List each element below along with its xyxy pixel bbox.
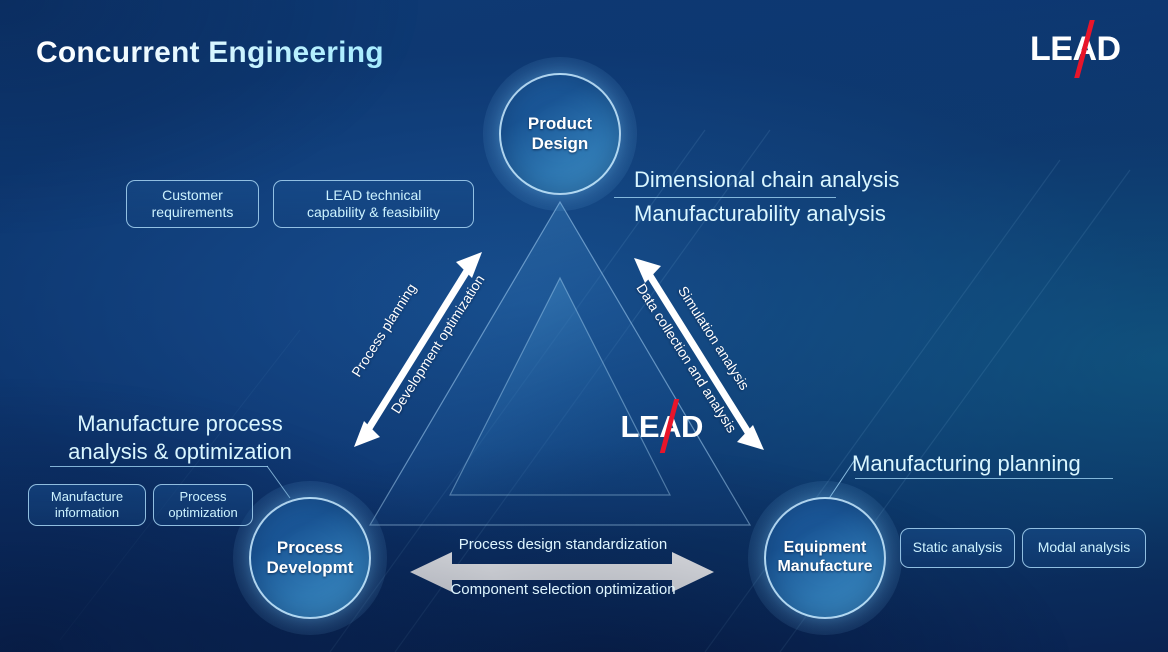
slide-canvas: Concurrent Engineering LEAD LEAD Product…: [0, 0, 1168, 652]
pill-text: LEAD technical capability & feasibility: [307, 187, 440, 221]
pill-text: Manufacture information: [51, 489, 123, 521]
node-process-development[interactable]: Process Developmt: [249, 497, 371, 619]
pill-line-1: Manufacture: [51, 489, 123, 504]
node-line-1: Process: [277, 538, 343, 557]
heading-left: Manufacture process analysis & optimizat…: [44, 410, 316, 465]
pill-text: Process optimization: [168, 489, 237, 521]
pill-line-2: requirements: [152, 204, 234, 220]
pill-process-optimization[interactable]: Process optimization: [153, 484, 253, 526]
heading-top-right-rule: [614, 197, 836, 198]
node-line-2: Manufacture: [777, 558, 872, 575]
pill-text: Customer requirements: [152, 187, 234, 221]
arrow-bottom-above-label: Process design standardization: [398, 536, 728, 553]
heading-right: Manufacturing planning: [852, 450, 1120, 478]
node-product-design[interactable]: Product Design: [499, 73, 621, 195]
pill-modal-analysis[interactable]: Modal analysis: [1022, 528, 1146, 568]
center-logo-text: LEAD: [620, 411, 702, 442]
pill-line-1: Process: [180, 489, 227, 504]
heading-right-rule: [855, 478, 1113, 479]
pill-manufacture-information[interactable]: Manufacture information: [28, 484, 146, 526]
pill-line-1: LEAD technical: [326, 187, 422, 203]
heading-top-right-line-2: Manufacturability analysis: [634, 200, 934, 228]
brand-logo-text: LEAD: [1030, 32, 1121, 66]
node-process-development-label: Process Developmt: [267, 538, 354, 577]
pill-line-2: information: [55, 505, 119, 520]
pill-line-2: optimization: [168, 505, 237, 520]
node-line-1: Product: [528, 114, 592, 133]
heading-right-line-1: Manufacturing planning: [852, 450, 1120, 478]
pill-line-1: Modal analysis: [1038, 539, 1131, 556]
heading-left-line-1: Manufacture process: [44, 410, 316, 438]
node-line-2: Developmt: [267, 558, 354, 577]
node-line-1: Equipment: [784, 539, 867, 556]
left-heading-connector: [267, 466, 290, 498]
node-equipment-manufacture-label: Equipment Manufacture: [777, 539, 872, 576]
pill-static-analysis[interactable]: Static analysis: [900, 528, 1015, 568]
node-product-design-label: Product Design: [528, 114, 592, 153]
heading-left-line-2: analysis & optimization: [44, 438, 316, 466]
heading-left-rule: [50, 466, 268, 467]
pill-line-1: Static analysis: [913, 539, 1002, 556]
brand-logo-top-right: LEAD: [1030, 28, 1122, 72]
node-line-2: Design: [532, 134, 589, 153]
pill-customer-requirements[interactable]: Customer requirements: [126, 180, 259, 228]
arrow-bottom-below-label: Component selection optimization: [384, 581, 742, 598]
pill-line-2: capability & feasibility: [307, 204, 440, 220]
pill-lead-technical-capability[interactable]: LEAD technical capability & feasibility: [273, 180, 474, 228]
node-equipment-manufacture[interactable]: Equipment Manufacture: [764, 497, 886, 619]
page-title: Concurrent Engineering: [36, 36, 384, 70]
heading-top-right-line-1: Dimensional chain analysis: [634, 166, 934, 194]
pill-line-1: Customer: [162, 187, 223, 203]
brand-logo-center: LEAD: [620, 408, 700, 448]
